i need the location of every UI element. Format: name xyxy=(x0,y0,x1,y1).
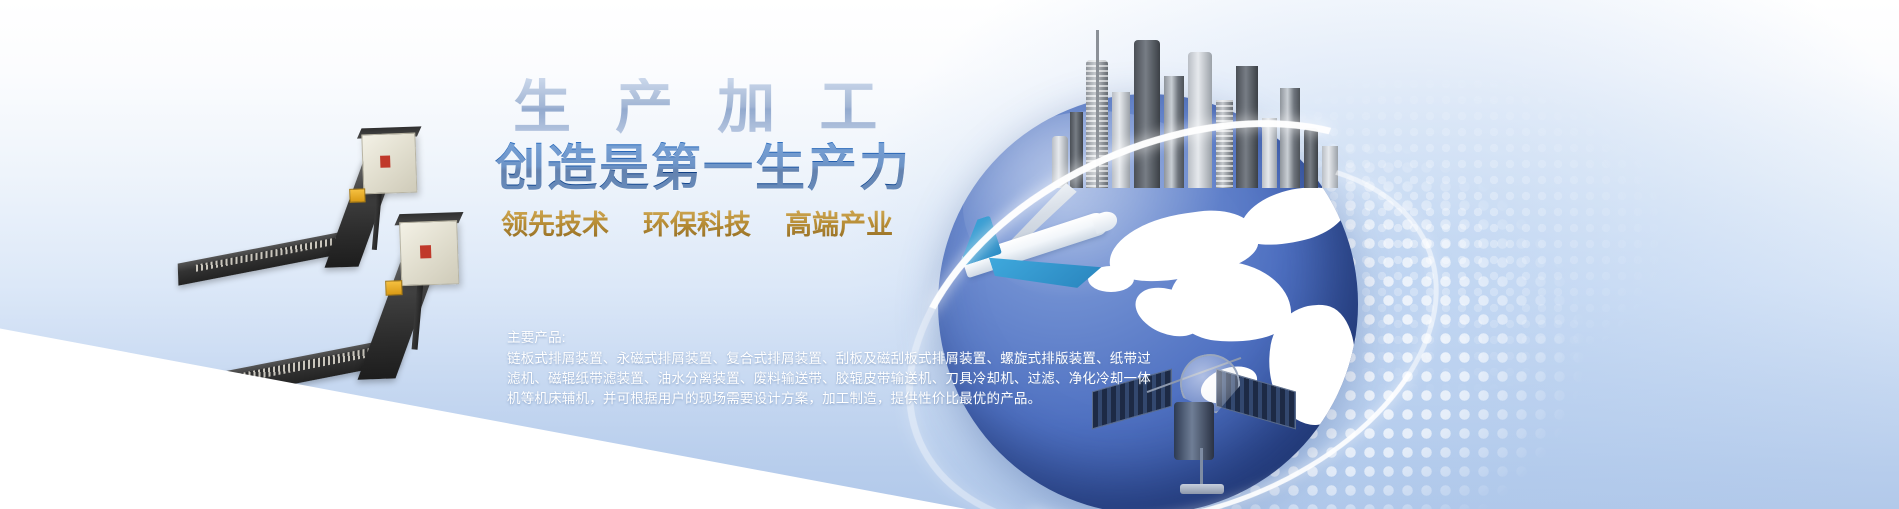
globe-composition xyxy=(928,22,1488,509)
warning-label-icon xyxy=(420,245,431,258)
product-description-lead: 主要产品: xyxy=(507,328,1157,348)
warning-label-icon xyxy=(380,155,390,167)
satellite-base xyxy=(1180,484,1224,494)
conveyor-motor-box xyxy=(349,188,365,203)
tagline-row: 领先技术 环保科技 高端产业 xyxy=(495,203,965,242)
tagline-item-3: 高端产业 xyxy=(785,203,893,242)
conveyor-motor-box xyxy=(385,280,403,296)
headline-main: 创造是第一生产力 xyxy=(495,142,965,195)
satellite-body xyxy=(1174,402,1214,460)
tagline-item-2: 环保科技 xyxy=(643,203,751,242)
product-description-body: 链板式排屑装置、永磁式排屑装置、复合式排屑装置、刮板及磁刮板式排屑装置、螺旋式排… xyxy=(507,349,1157,409)
product-description: 主要产品: 链板式排屑装置、永磁式排屑装置、复合式排屑装置、刮板及磁刮板式排屑装… xyxy=(507,328,1157,409)
headline-block: 生 产 加 工 创造是第一生产力 领先技术 环保科技 高端产业 xyxy=(495,78,965,242)
tagline-item-1: 领先技术 xyxy=(501,203,609,242)
promotional-banner: 生 产 加 工 创造是第一生产力 领先技术 环保科技 高端产业 主要产品: 链板… xyxy=(0,0,1899,509)
satellite-mast xyxy=(1200,448,1203,488)
headline-ghost: 生 产 加 工 xyxy=(495,78,965,138)
